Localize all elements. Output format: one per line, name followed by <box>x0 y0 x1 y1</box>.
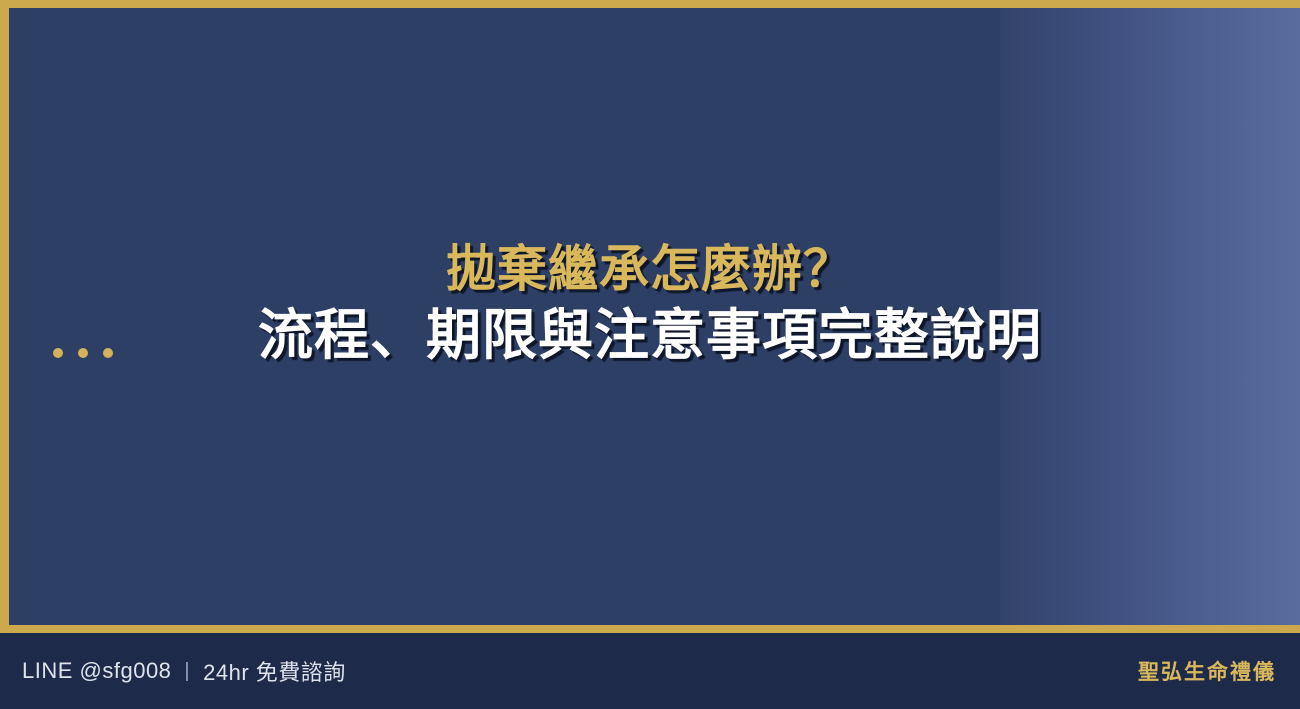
gold-border-left <box>0 0 9 625</box>
slide-canvas: 拋棄繼承怎麼辦？ 流程、期限與注意事項完整說明 LINE @sfg008 | 2… <box>0 0 1300 709</box>
headline-block: 拋棄繼承怎麼辦？ 流程、期限與注意事項完整說明 <box>0 240 1300 368</box>
brand-name: 聖弘生命禮儀 <box>1138 656 1276 686</box>
slide-title: 拋棄繼承怎麼辦？ <box>0 240 1300 299</box>
footer-contact-group: LINE @sfg008 | 24hr 免費諮詢 <box>22 655 346 687</box>
slide-subtitle: 流程、期限與注意事項完整說明 <box>0 303 1300 368</box>
service-hours-label: 24hr 免費諮詢 <box>203 655 346 687</box>
gold-divider <box>0 625 1300 633</box>
hero-section: 拋棄繼承怎麼辦？ 流程、期限與注意事項完整說明 <box>0 0 1300 625</box>
gold-border-top <box>0 0 1300 8</box>
footer-bar: LINE @sfg008 | 24hr 免費諮詢 聖弘生命禮儀 <box>0 633 1300 709</box>
line-id-label[interactable]: LINE @sfg008 <box>22 658 171 684</box>
footer-separator: | <box>184 660 190 683</box>
